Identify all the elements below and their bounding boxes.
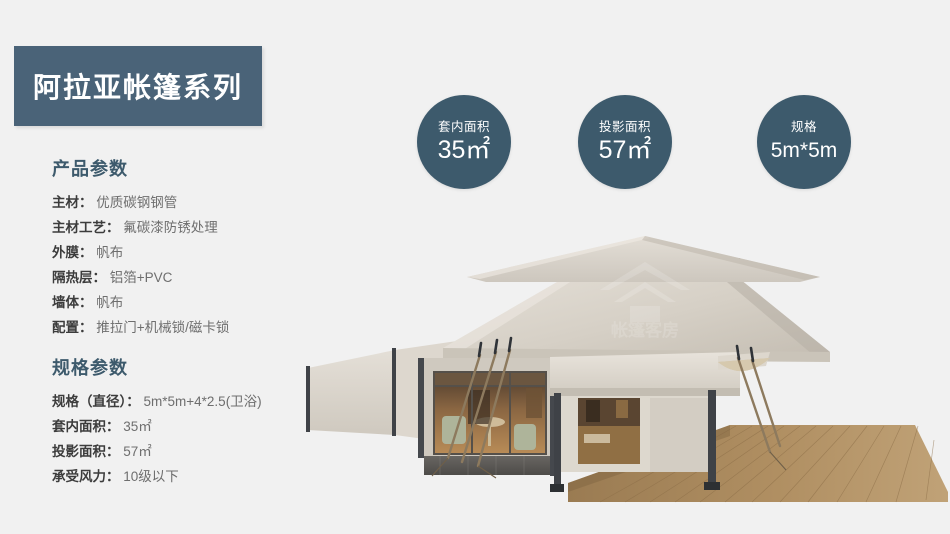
badge-value: 35㎡ xyxy=(438,136,491,165)
annex-post-left xyxy=(306,366,310,432)
porch-awning xyxy=(550,352,740,393)
porch-floor-inside xyxy=(578,426,640,464)
stat-badge-interior-area: 套内面积 35㎡ xyxy=(417,95,511,189)
title-banner: 阿拉亚帐篷系列 xyxy=(14,46,262,126)
spec-label: 外膜： xyxy=(52,245,93,260)
badge-caption: 投影面积 xyxy=(599,120,651,135)
product-spec-page: 阿拉亚帐篷系列 产品参数 主材： 优质碳钢钢管 主材工艺： 氟碳漆防锈处理 外膜… xyxy=(0,0,950,534)
annex-post-mid xyxy=(392,348,396,436)
left-room-post xyxy=(418,358,424,458)
product-params-heading: 产品参数 xyxy=(52,155,352,181)
spec-label: 隔热层： xyxy=(52,270,106,285)
porch-rug xyxy=(584,434,610,443)
badge-value: 57㎡ xyxy=(599,136,652,165)
spec-value: 铝箔+PVC xyxy=(110,270,173,285)
building-plinth xyxy=(424,453,554,475)
annex-wall-left xyxy=(308,350,395,435)
spec-value: 5m*5m+4*2.5(卫浴) xyxy=(144,394,262,409)
spec-value: 35㎡ xyxy=(123,419,152,434)
badge-caption: 套内面积 xyxy=(438,120,490,135)
porch-post-right-foot xyxy=(704,482,720,490)
spec-value: 优质碳钢钢管 xyxy=(96,195,177,210)
porch-side-wall xyxy=(650,398,710,472)
porch-interior-panel xyxy=(586,400,600,422)
spec-value: 氟碳漆防锈处理 xyxy=(123,220,218,235)
spec-value: 10级以下 xyxy=(123,469,179,484)
spec-label: 承受风力： xyxy=(52,469,120,484)
spec-value: 推拉门+机械锁/磁卡锁 xyxy=(96,320,229,335)
spec-label: 主材： xyxy=(52,195,93,210)
porch-post-right xyxy=(708,390,716,485)
watermark-text: 帐篷客房 xyxy=(611,320,679,340)
spec-label: 规格（直径）： xyxy=(52,394,140,409)
stat-badge-projected-area: 投影面积 57㎡ xyxy=(578,95,672,189)
badge-caption: 规格 xyxy=(791,120,817,135)
interior-armchair-right xyxy=(514,424,536,450)
tent-illustration: 帐篷客房 xyxy=(300,230,950,520)
interior-shelf xyxy=(526,388,542,418)
spec-value: 帆布 xyxy=(96,295,123,310)
spec-label: 套内面积： xyxy=(52,419,120,434)
roof-upper xyxy=(467,236,820,282)
spec-label: 主材工艺： xyxy=(52,220,120,235)
stat-badge-dimensions: 规格 5m*5m xyxy=(757,95,851,189)
spec-label: 墙体： xyxy=(52,295,93,310)
tent-render-svg: 帐篷客房 xyxy=(300,230,950,520)
spec-value: 帆布 xyxy=(96,245,123,260)
badge-value: 5m*5m xyxy=(771,136,838,165)
porch-post-left-foot xyxy=(550,484,564,492)
porch-post-left xyxy=(554,393,561,488)
spec-label: 投影面积： xyxy=(52,444,120,459)
spec-label: 配置： xyxy=(52,320,93,335)
porch-interior-stool xyxy=(616,400,628,418)
spec-row: 主材： 优质碳钢钢管 xyxy=(52,190,352,215)
spec-value: 57㎡ xyxy=(123,444,152,459)
page-title: 阿拉亚帐篷系列 xyxy=(33,66,243,106)
